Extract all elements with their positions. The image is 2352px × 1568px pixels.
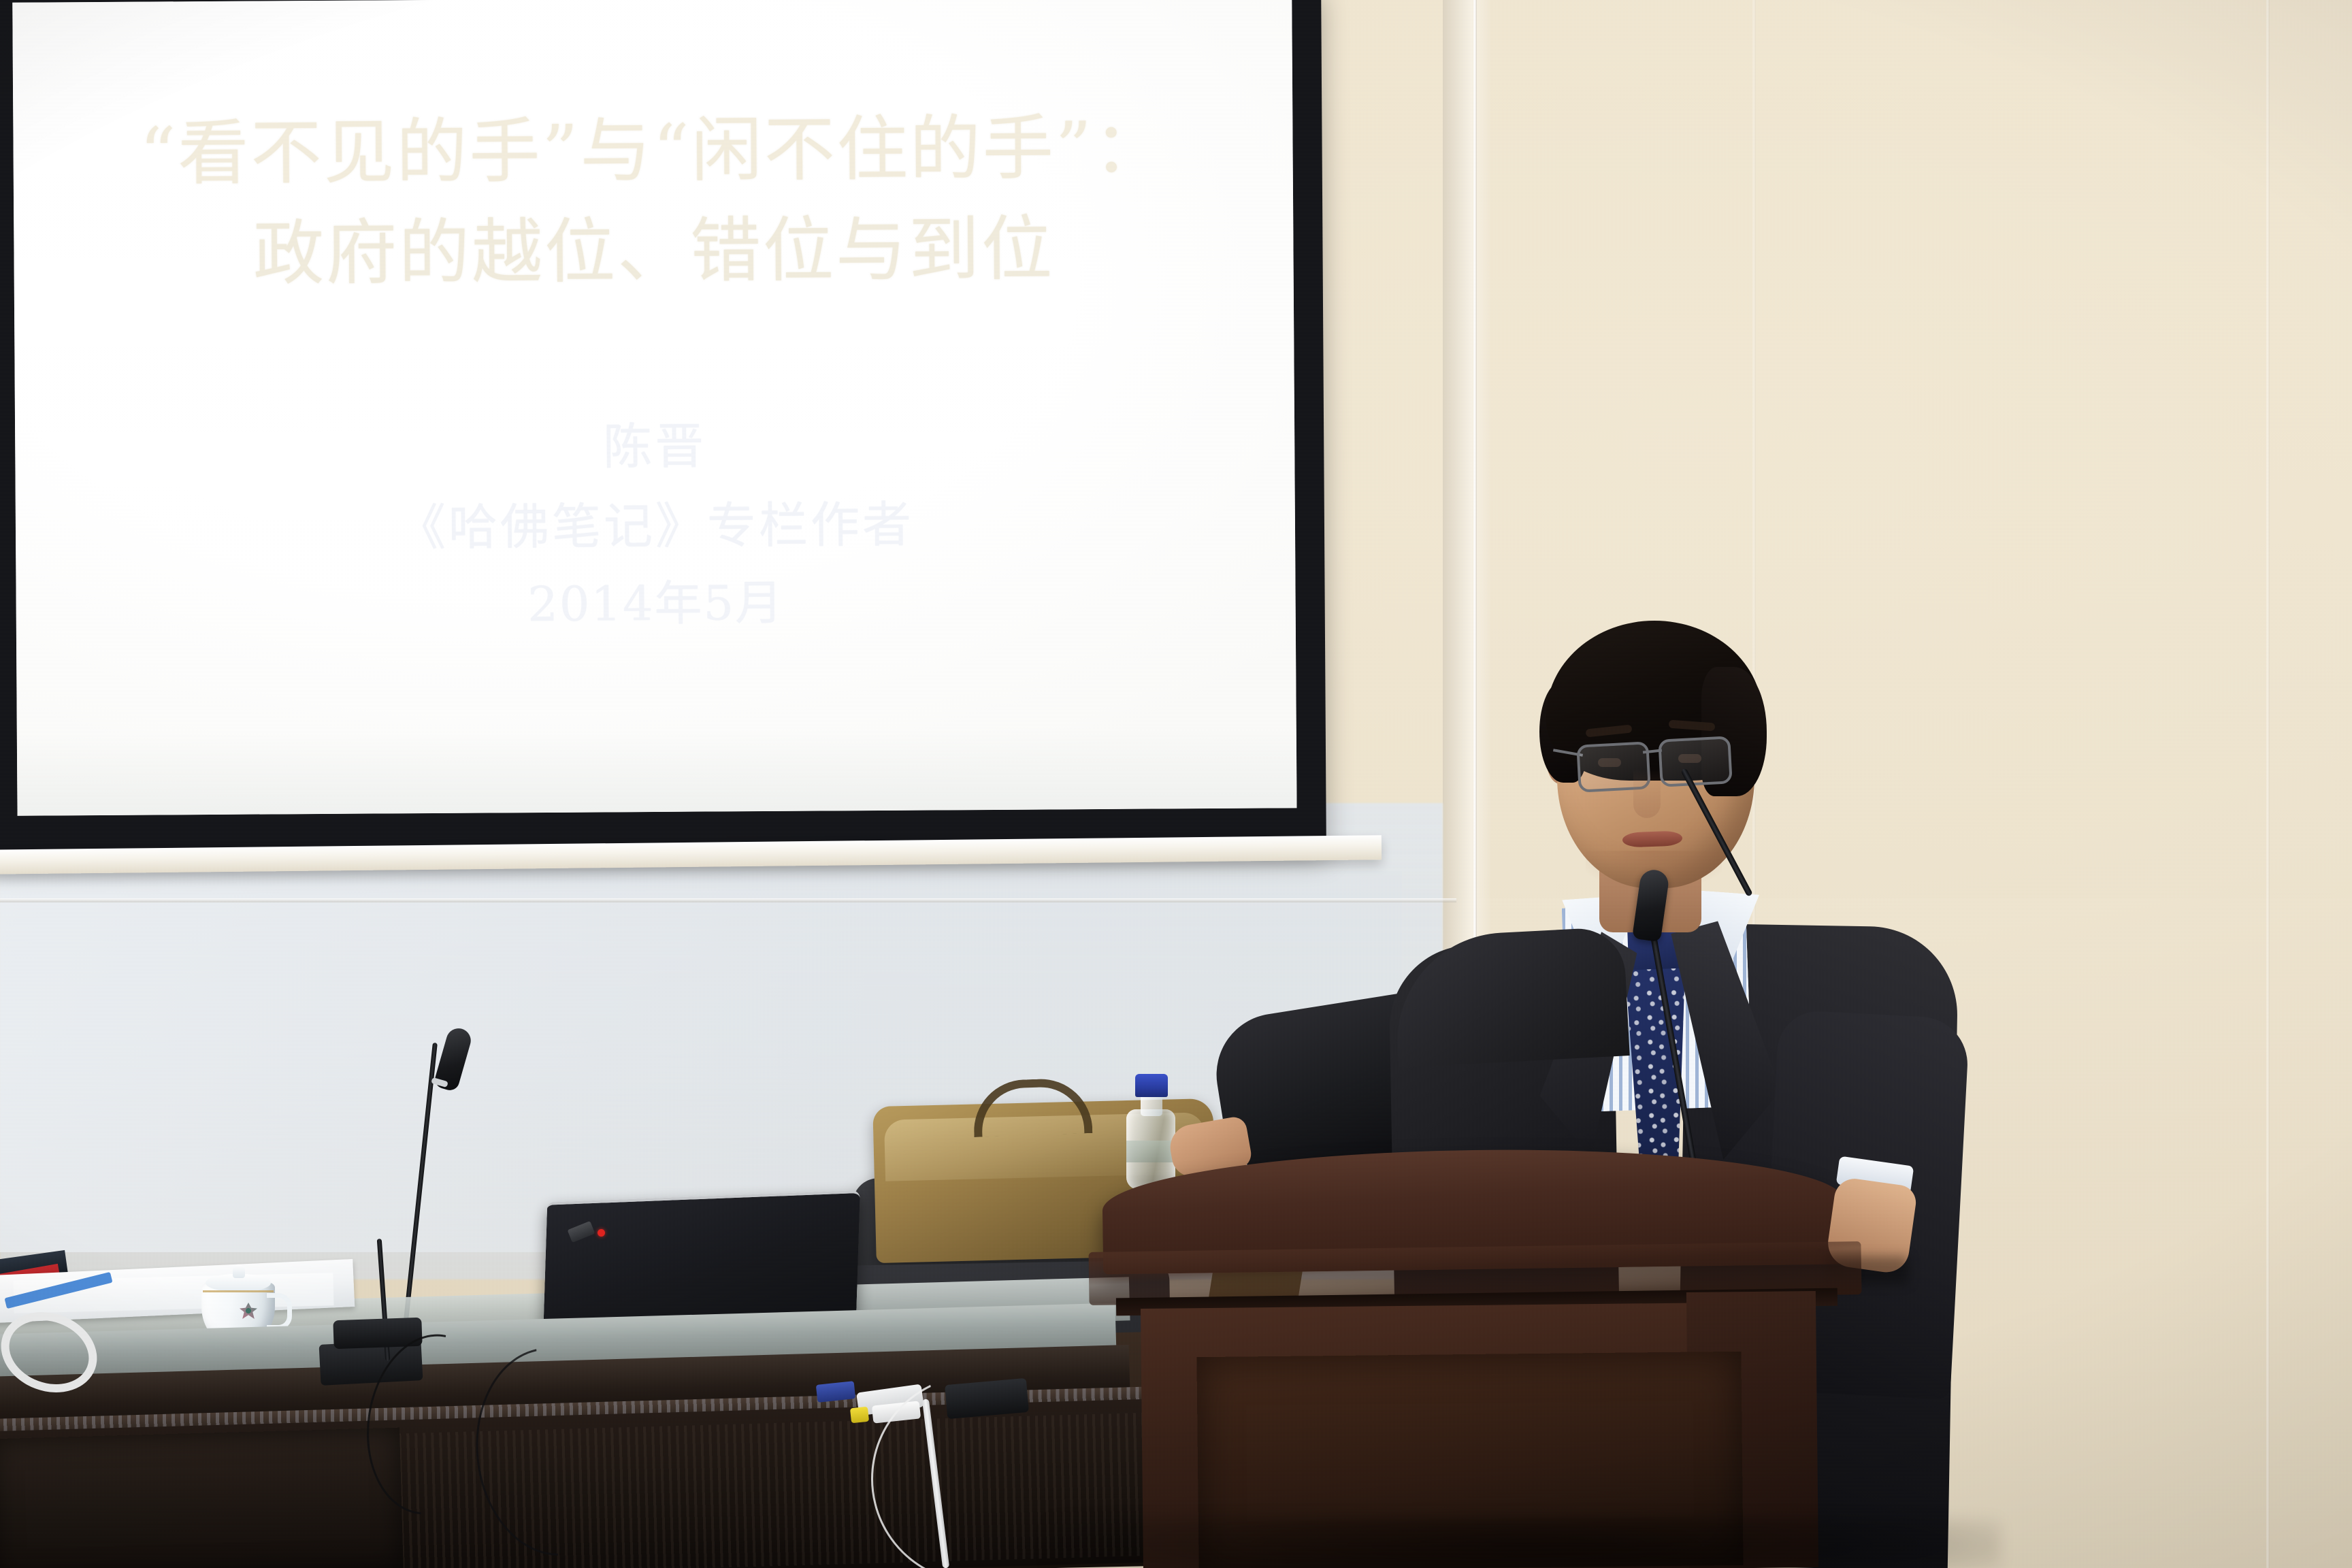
- projection-screen-frame: “看不见的手”与“闲不住的手”： 政府的越位、错位与到位 陈晋 《哈佛笔记》专栏…: [0, 0, 1326, 855]
- projection-screen-surface: “看不见的手”与“闲不住的手”： 政府的越位、错位与到位 陈晋 《哈佛笔记》专栏…: [12, 0, 1296, 816]
- slide-title: “看不见的手”与“闲不住的手”： 政府的越位、错位与到位: [13, 97, 1294, 306]
- teacup-handle: [267, 1293, 292, 1330]
- teacup-gold-rim: [203, 1290, 274, 1292]
- teacup-lid-knob: [233, 1264, 245, 1278]
- laptop-indicator-dot-icon: [598, 1229, 605, 1237]
- screen-bottom-shading: [17, 726, 1297, 815]
- slide-subtitle-block: 陈晋 《哈佛笔记》专栏作者 2014年5月: [15, 403, 1296, 647]
- wall-panel-seam: [2266, 0, 2270, 1568]
- slide-affiliation: 《哈佛笔记》专栏作者: [16, 483, 1296, 570]
- speaker-nose: [1633, 769, 1661, 818]
- slide-title-line2: 政府的越位、错位与到位: [14, 197, 1294, 306]
- slide-date: 2014年5月: [16, 562, 1296, 647]
- conference-photo-scene: “看不见的手”与“闲不住的手”： 政府的越位、错位与到位 陈晋 《哈佛笔记》专栏…: [0, 0, 2352, 1568]
- presentation-slide: “看不见的手”与“闲不住的手”： 政府的越位、错位与到位 陈晋 《哈佛笔记》专栏…: [12, 0, 1296, 816]
- water-bottle-cap: [1135, 1074, 1168, 1097]
- wall-horizontal-trim: [0, 898, 1456, 902]
- eyeglasses-lens-right: [1658, 736, 1733, 787]
- dark-connector-block: [945, 1378, 1029, 1419]
- conference-table-left-cabinet: [0, 1428, 404, 1568]
- rca-connector: [850, 1407, 869, 1424]
- floor-shadow: [1048, 1518, 2001, 1568]
- water-bottle-label: [1126, 1141, 1175, 1162]
- slide-author: 陈晋: [15, 403, 1295, 490]
- slide-title-line1: “看不见的手”与“闲不住的手”：: [140, 105, 1166, 195]
